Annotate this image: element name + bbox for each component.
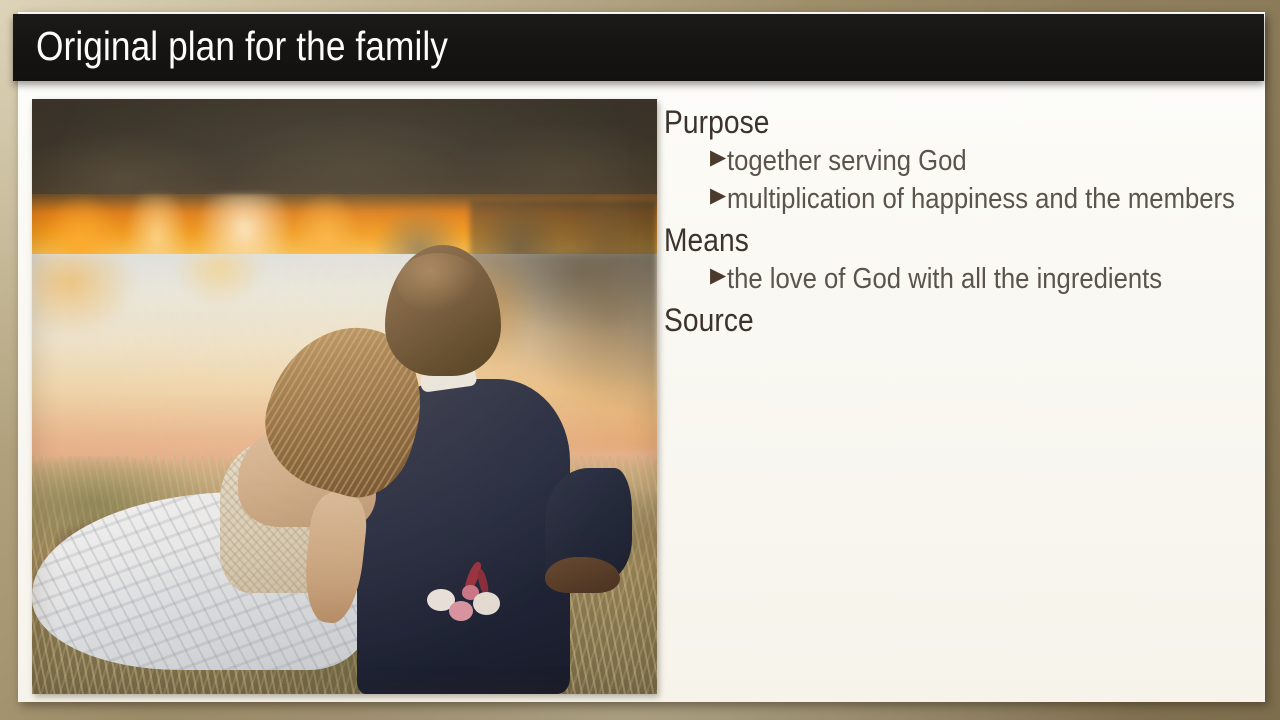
heading-purpose: Purpose: [664, 101, 1181, 143]
content-block-means: Means ▶ the love of God with all the ing…: [664, 219, 1252, 299]
page-title: Original plan for the family: [36, 26, 448, 70]
list-item-label: multiplication of happiness and the memb…: [727, 181, 1235, 219]
list-item: ▶ together serving God: [710, 143, 1252, 181]
slide-frame: Original plan for the family Purpose: [0, 0, 1280, 720]
list-item-label: together serving God: [727, 143, 967, 181]
content-block-source: Source: [664, 299, 1252, 341]
heading-means: Means: [664, 219, 1181, 261]
list-item: ▶ multiplication of happiness and the me…: [710, 181, 1252, 219]
photo-bouquet: [426, 575, 507, 629]
triangle-bullet-icon: ▶: [710, 143, 726, 173]
triangle-bullet-icon: ▶: [710, 261, 726, 291]
heading-source: Source: [664, 299, 1181, 341]
content-block-purpose: Purpose ▶ together serving God ▶ multipl…: [664, 101, 1252, 219]
triangle-bullet-icon: ▶: [710, 181, 726, 211]
list-item-label: the love of God with all the ingredients: [727, 261, 1162, 299]
slide-title-bar: Original plan for the family: [13, 14, 1264, 81]
photo-groom-shoe: [545, 557, 620, 593]
wedding-couple-sunset-photo: [32, 99, 657, 694]
list-item: ▶ the love of God with all the ingredien…: [710, 261, 1252, 299]
slide-body-text: Purpose ▶ together serving God ▶ multipl…: [664, 101, 1252, 341]
